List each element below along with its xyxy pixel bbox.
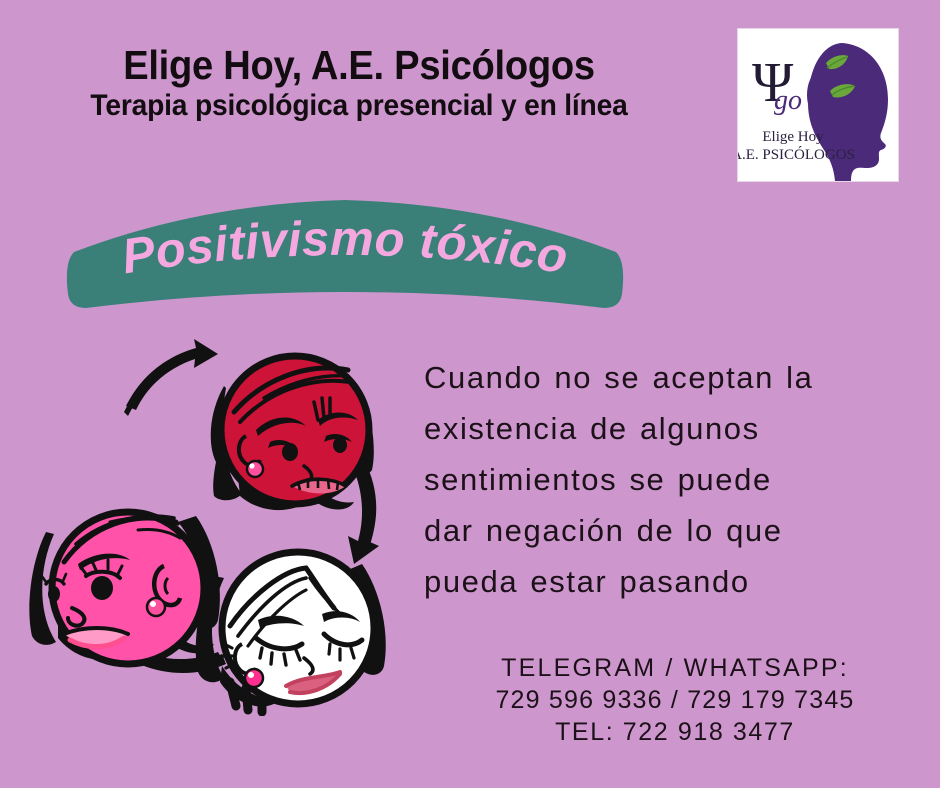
earring-icon-pink	[147, 598, 165, 616]
angry-red-face	[211, 356, 374, 510]
body-paragraph: Cuando no se aceptan la existencia de al…	[424, 352, 924, 607]
eye-left	[48, 586, 60, 602]
happy-pink-face	[29, 512, 220, 664]
three-faces-cycle-graphic	[18, 326, 438, 716]
eye-right	[91, 576, 113, 600]
angry-face-circle	[221, 356, 369, 504]
sad-white-face	[196, 552, 386, 712]
logo-brand-line1: Elige Hoy	[762, 129, 824, 145]
script-mark: go	[774, 85, 802, 116]
logo-brand-line2: A.E. PSICÓLOGOS	[738, 146, 855, 163]
brand-logo-graphic: Ψ go Elige Hoy A.E. PSICÓLOGOS	[738, 29, 898, 181]
header-title-block: Elige Hoy, A.E. Psicólogos Terapia psico…	[0, 44, 718, 123]
contact-phone-number[interactable]: TEL: 722 918 3477	[440, 716, 910, 748]
body-line-1: Cuando no se aceptan la	[424, 352, 924, 403]
earring-icon-white	[245, 669, 263, 687]
brand-logo-card: Ψ go Elige Hoy A.E. PSICÓLOGOS	[738, 29, 898, 181]
body-line-3: sentimientos se puede	[424, 454, 924, 505]
contact-channels-label: TELEGRAM / WHATSAPP:	[440, 652, 910, 684]
body-line-5: pueda estar pasando	[424, 556, 924, 607]
body-line-2: existencia de algunos	[424, 403, 924, 454]
earring-icon-red	[247, 461, 263, 477]
page-title: Elige Hoy, A.E. Psicólogos	[25, 44, 693, 87]
contact-mobile-numbers[interactable]: 729 596 9336 / 729 179 7345	[440, 684, 910, 716]
three-faces-cycle-illustration	[18, 326, 438, 716]
body-line-4: dar negación de lo que	[424, 505, 924, 556]
poster-canvas: Elige Hoy, A.E. Psicólogos Terapia psico…	[0, 0, 940, 788]
topic-banner-graphic: Positivismo tóxico	[60, 196, 630, 316]
arrow-pink-to-red-icon	[124, 339, 218, 416]
topic-banner: Positivismo tóxico	[60, 196, 630, 316]
page-subtitle: Terapia psicológica presencial y en líne…	[22, 89, 697, 123]
contact-block: TELEGRAM / WHATSAPP: 729 596 9336 / 729 …	[440, 652, 910, 748]
